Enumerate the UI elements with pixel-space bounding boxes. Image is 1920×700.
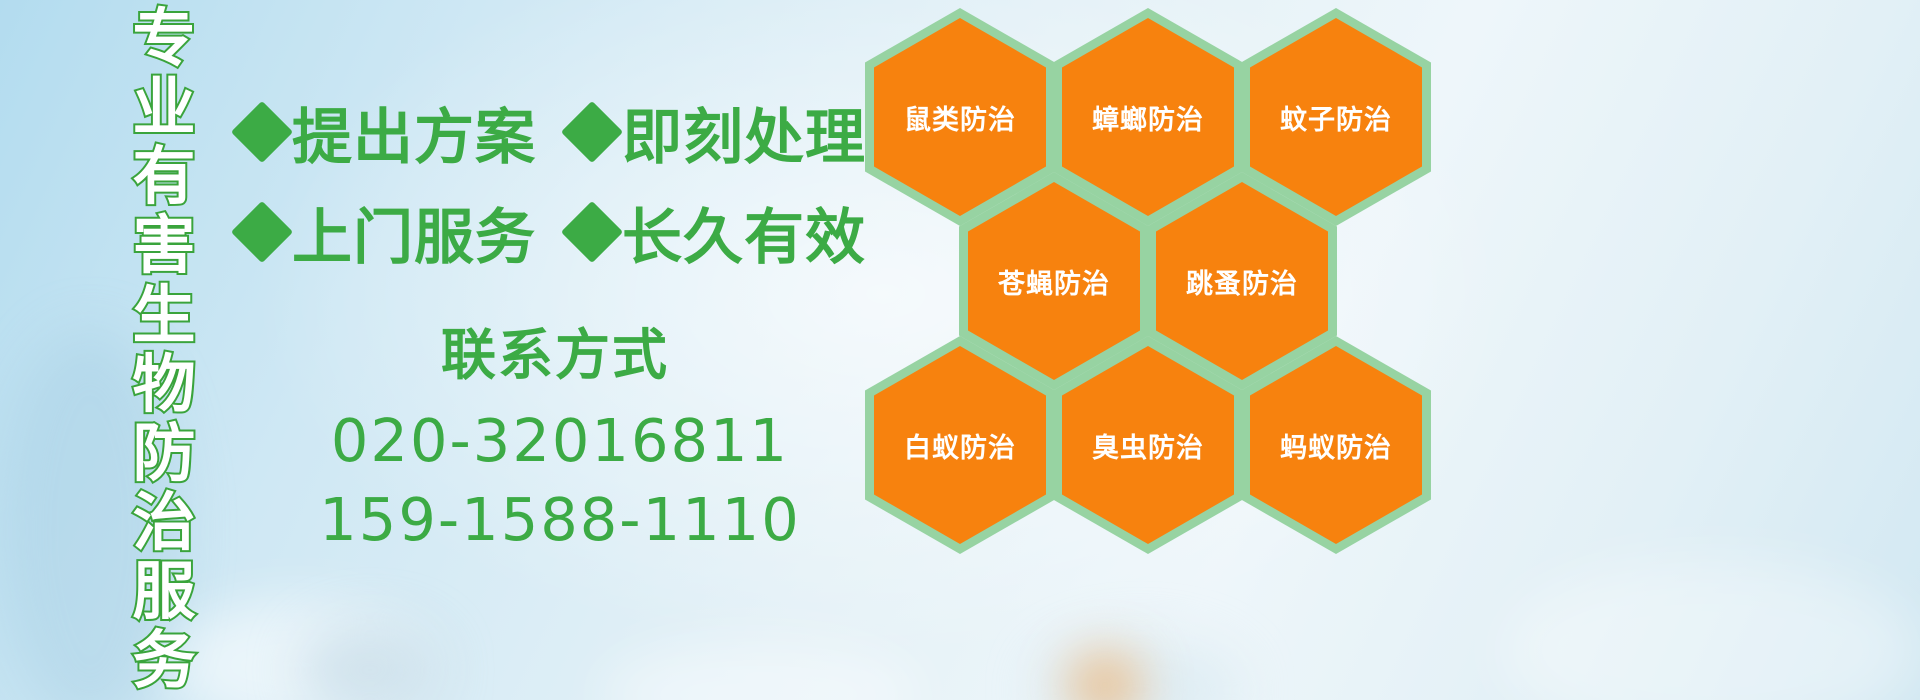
- service-label: 臭虫防治: [1092, 426, 1204, 465]
- vertical-headline-char: 有: [133, 146, 196, 208]
- feature-list: 提出方案 即刻处理 上门服务 长久有效: [232, 82, 872, 282]
- vertical-headline-char: 生: [133, 285, 196, 347]
- service-label: 蚊子防治: [1280, 98, 1392, 137]
- vertical-headline: 专 业 有 害 生 物 防 治 服 务: [112, 8, 216, 692]
- vertical-headline-char: 防: [133, 423, 196, 485]
- contact-block: 联系方式 020-32016811 159-1588-1110: [300, 310, 820, 554]
- phone-number-mobile[interactable]: 159-1588-1110: [300, 485, 820, 554]
- service-label: 蚂蚁防治: [1280, 426, 1392, 465]
- vertical-headline-char: 业: [133, 77, 196, 139]
- vertical-headline-char: 务: [133, 630, 196, 692]
- diamond-icon: [562, 210, 622, 254]
- vertical-headline-char: 物: [133, 354, 196, 416]
- pest-control-banner: 专 业 有 害 生 物 防 治 服 务 提出方案 即刻处理 上门服务 长久有效 …: [0, 0, 1920, 700]
- service-hexagon-grid: 鼠类防治 蟑螂防治 蚊子防治 苍蝇防治 跳蚤防治 白蚁防治 臭虫防治 蚂蚁: [855, 0, 1455, 700]
- feature-label: 上门服务: [292, 189, 536, 276]
- vertical-headline-char: 服: [133, 561, 196, 623]
- service-label: 蟑螂防治: [1092, 98, 1204, 137]
- diamond-icon: [232, 210, 292, 254]
- diamond-icon: [562, 110, 622, 154]
- feature-label: 长久有效: [622, 189, 866, 276]
- feature-label: 即刻处理: [622, 89, 866, 176]
- service-label: 苍蝇防治: [998, 262, 1110, 301]
- diamond-icon: [232, 110, 292, 154]
- vertical-headline-char: 专: [133, 8, 196, 70]
- service-label: 跳蚤防治: [1186, 262, 1298, 301]
- feature-row: 提出方案 即刻处理: [232, 82, 872, 182]
- feature-row: 上门服务 长久有效: [232, 182, 872, 282]
- feature-label: 提出方案: [292, 89, 536, 176]
- service-label: 鼠类防治: [904, 98, 1016, 137]
- background-blob: [1500, 560, 1920, 700]
- vertical-headline-char: 治: [133, 492, 196, 554]
- contact-title: 联系方式: [290, 310, 820, 390]
- phone-number-landline[interactable]: 020-32016811: [300, 406, 820, 475]
- background-blob: [300, 625, 440, 700]
- service-label: 白蚁防治: [904, 426, 1016, 465]
- vertical-headline-char: 害: [133, 215, 196, 277]
